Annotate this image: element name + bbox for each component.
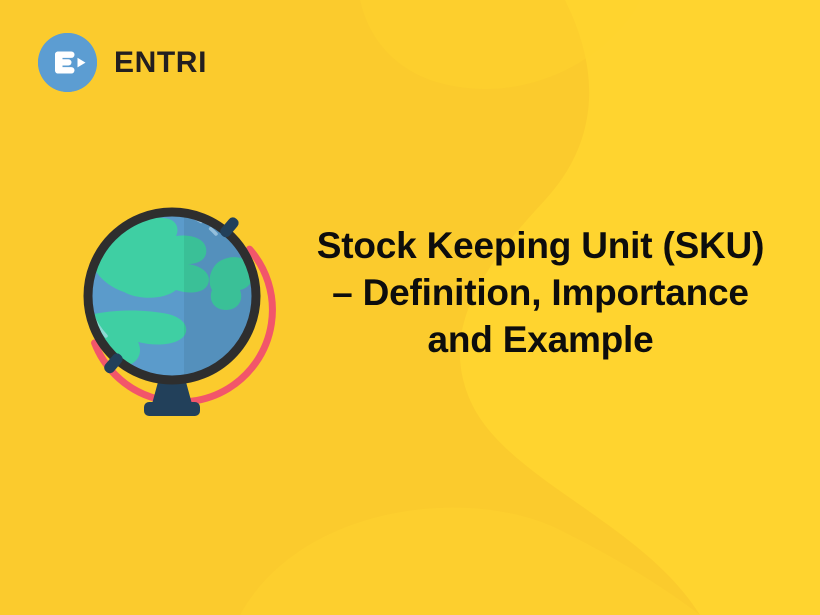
background-bottom-arc [240,508,700,615]
page-title-line-3: and Example [283,316,798,363]
brand-name-text: ENTRI [114,48,207,78]
banner-canvas: ENTRI [0,0,820,615]
page-title-line-2: – Definition, Importance [283,269,798,316]
brand-lockup[interactable]: ENTRI [38,33,207,92]
page-title-line-1: Stock Keeping Unit (SKU) [283,222,798,269]
background-top-arc [360,0,640,89]
entri-e-arrow-logo-icon [38,33,97,92]
globe-illustration [72,196,292,436]
page-title: Stock Keeping Unit (SKU) – Definition, I… [283,222,798,363]
